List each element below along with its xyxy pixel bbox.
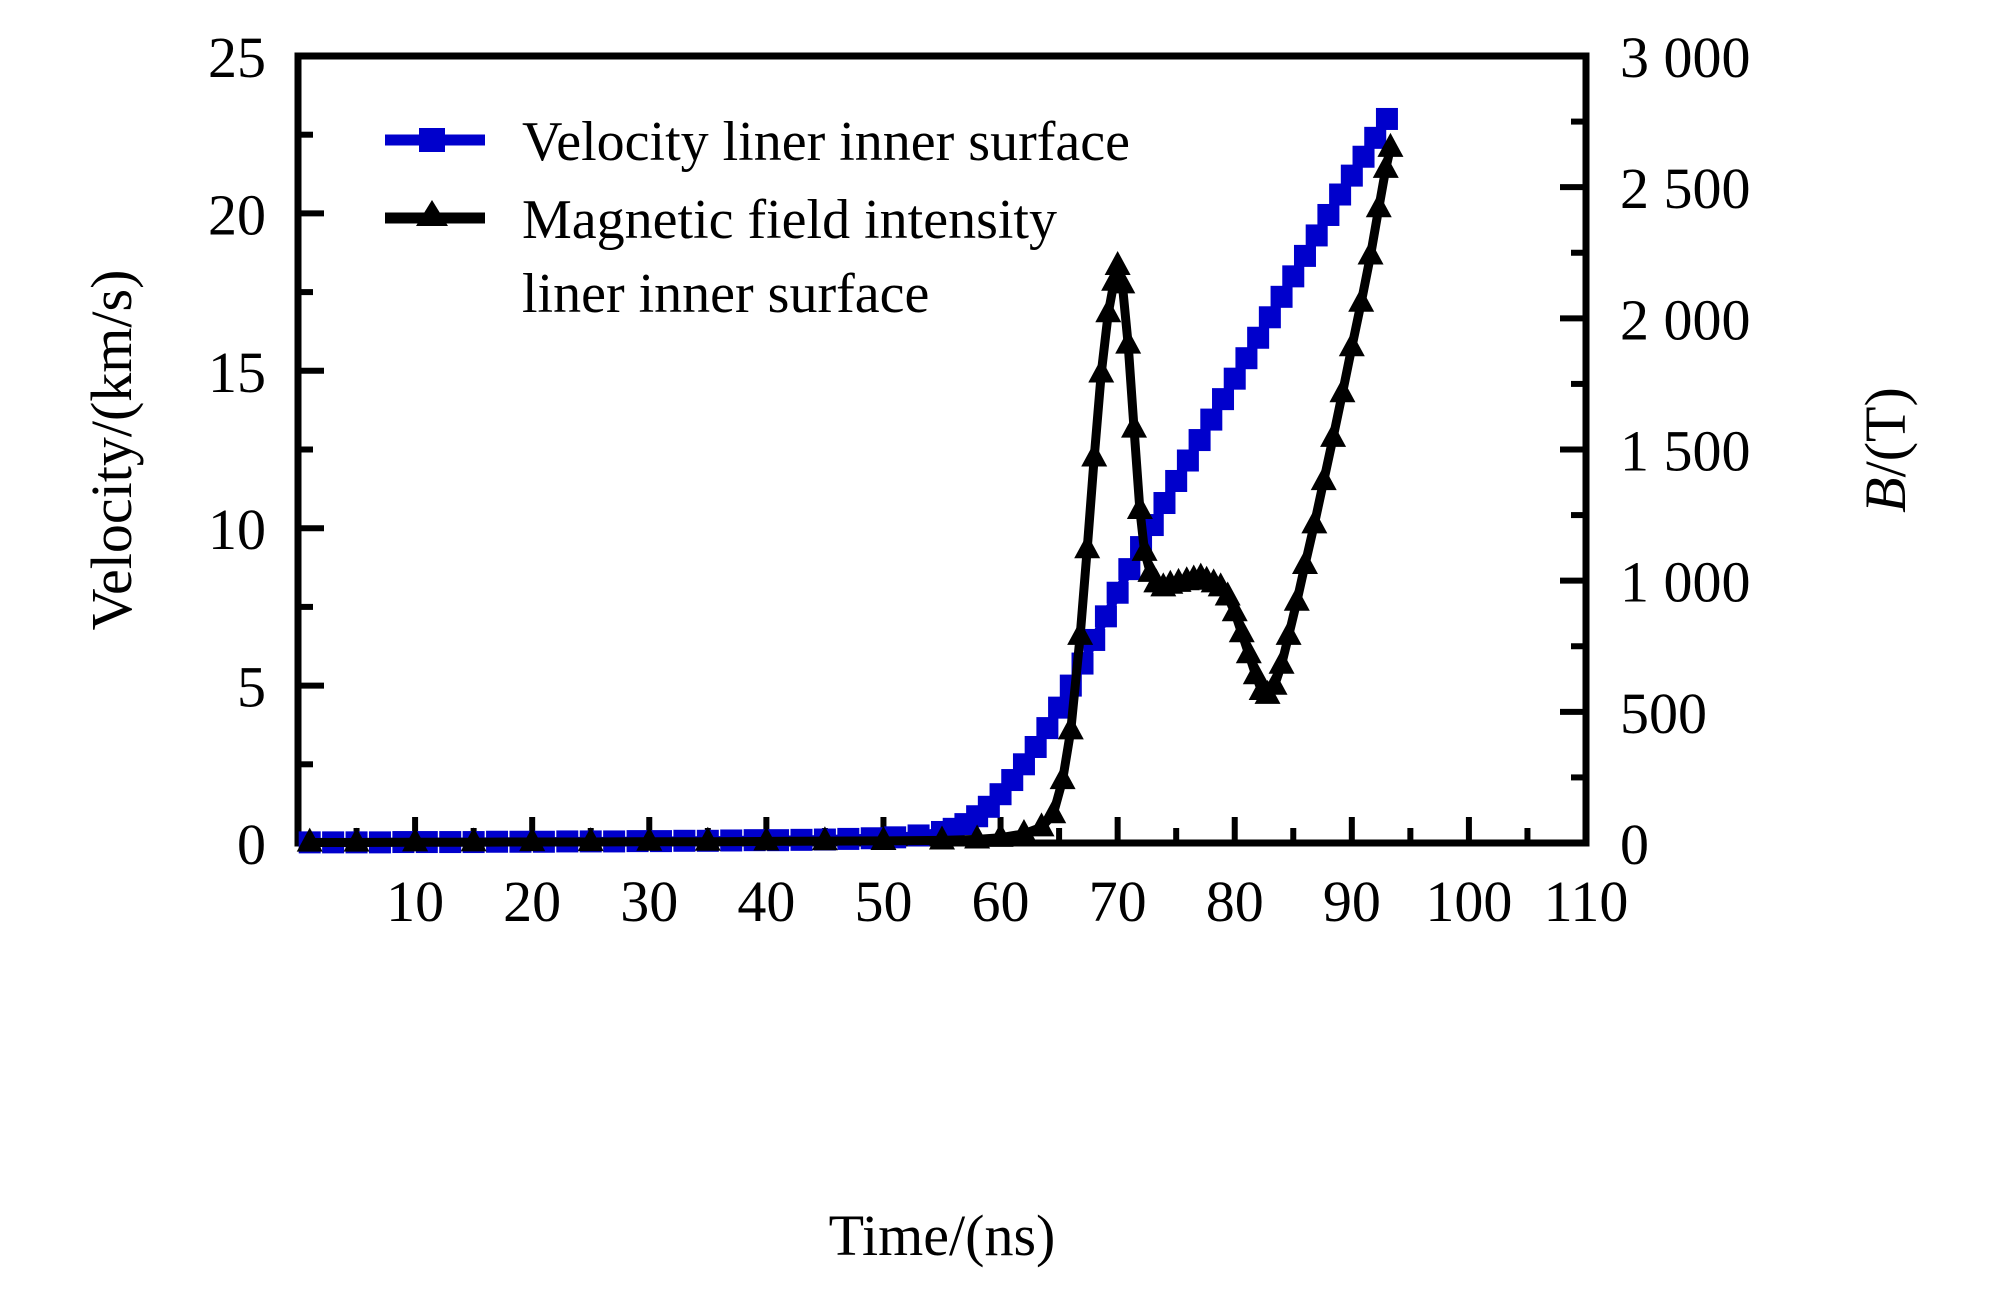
- x-tick-label: 70: [1089, 869, 1147, 934]
- marker-square: [1200, 409, 1222, 431]
- x-tick-label: 110: [1544, 869, 1629, 934]
- legend-label-magnetic-line2: liner inner surface: [522, 263, 929, 325]
- x-tick-label: 90: [1323, 869, 1381, 934]
- y-axis-left-title: Velocity/(km/s): [79, 270, 144, 631]
- x-tick-label: 30: [620, 869, 678, 934]
- legend-label-magnetic-line1: Magnetic field intensity: [522, 189, 1057, 251]
- marker-square: [1271, 286, 1293, 308]
- x-tick-label: 40: [737, 869, 795, 934]
- y2-tick-label: 2 000: [1620, 287, 1751, 352]
- marker-square: [1329, 184, 1351, 206]
- marker-square: [1317, 204, 1339, 226]
- marker-square: [1095, 605, 1117, 627]
- marker-square: [1364, 127, 1386, 149]
- marker-square: [1376, 108, 1398, 130]
- marker-square: [1153, 492, 1175, 514]
- legend-marker-square-icon: [419, 128, 445, 152]
- marker-square: [1048, 697, 1070, 719]
- y-axis-right-title-symbol: B: [1853, 477, 1918, 512]
- marker-square: [1353, 146, 1375, 168]
- y2-tick-label: 0: [1620, 812, 1649, 877]
- chart-svg: 102030405060708090100110 0510152025 0500…: [0, 0, 2010, 1299]
- x-tick-label: 10: [386, 869, 444, 934]
- y-tick-label: 25: [208, 25, 266, 90]
- marker-square: [1282, 265, 1304, 287]
- y-tick-label: 5: [237, 655, 266, 720]
- y-tick-label: 20: [208, 182, 266, 247]
- y-tick-label: 10: [208, 497, 266, 562]
- y2-tick-label: 1 000: [1620, 550, 1751, 615]
- y2-tick-label: 1 500: [1620, 419, 1751, 484]
- y2-tick-label: 500: [1620, 681, 1707, 746]
- marker-square: [1235, 347, 1257, 369]
- chart-figure: 102030405060708090100110 0510152025 0500…: [0, 0, 2010, 1299]
- marker-square: [1165, 470, 1187, 492]
- y-axis-right-title: B/(T): [1853, 387, 1918, 513]
- marker-square: [1036, 717, 1058, 739]
- marker-square: [1259, 306, 1281, 328]
- marker-square: [1212, 388, 1234, 410]
- x-tick-label: 80: [1206, 869, 1264, 934]
- y-axis-right-title-unit: /(T): [1853, 387, 1918, 477]
- marker-square: [1025, 736, 1047, 758]
- marker-square: [1224, 368, 1246, 390]
- x-tick-label: 60: [972, 869, 1030, 934]
- x-tick-label: 20: [503, 869, 561, 934]
- y-tick-label: 0: [237, 812, 266, 877]
- marker-square: [1177, 450, 1199, 472]
- marker-square: [1294, 245, 1316, 267]
- marker-square: [1107, 582, 1129, 604]
- marker-square: [1189, 429, 1211, 451]
- y2-tick-label: 2 500: [1620, 156, 1751, 221]
- marker-square: [1306, 224, 1328, 246]
- y2-tick-label: 3 000: [1620, 25, 1751, 90]
- x-axis-title: Time/(ns): [829, 1203, 1056, 1268]
- y-tick-label: 15: [208, 340, 266, 405]
- legend-label-velocity: Velocity liner inner surface: [522, 111, 1130, 173]
- marker-square: [1118, 558, 1140, 580]
- y-axis-right-title-text: B/(T): [1853, 387, 1918, 513]
- x-tick-label: 100: [1425, 869, 1512, 934]
- x-tick-label: 50: [854, 869, 912, 934]
- marker-square: [1341, 165, 1363, 187]
- marker-square: [1247, 327, 1269, 349]
